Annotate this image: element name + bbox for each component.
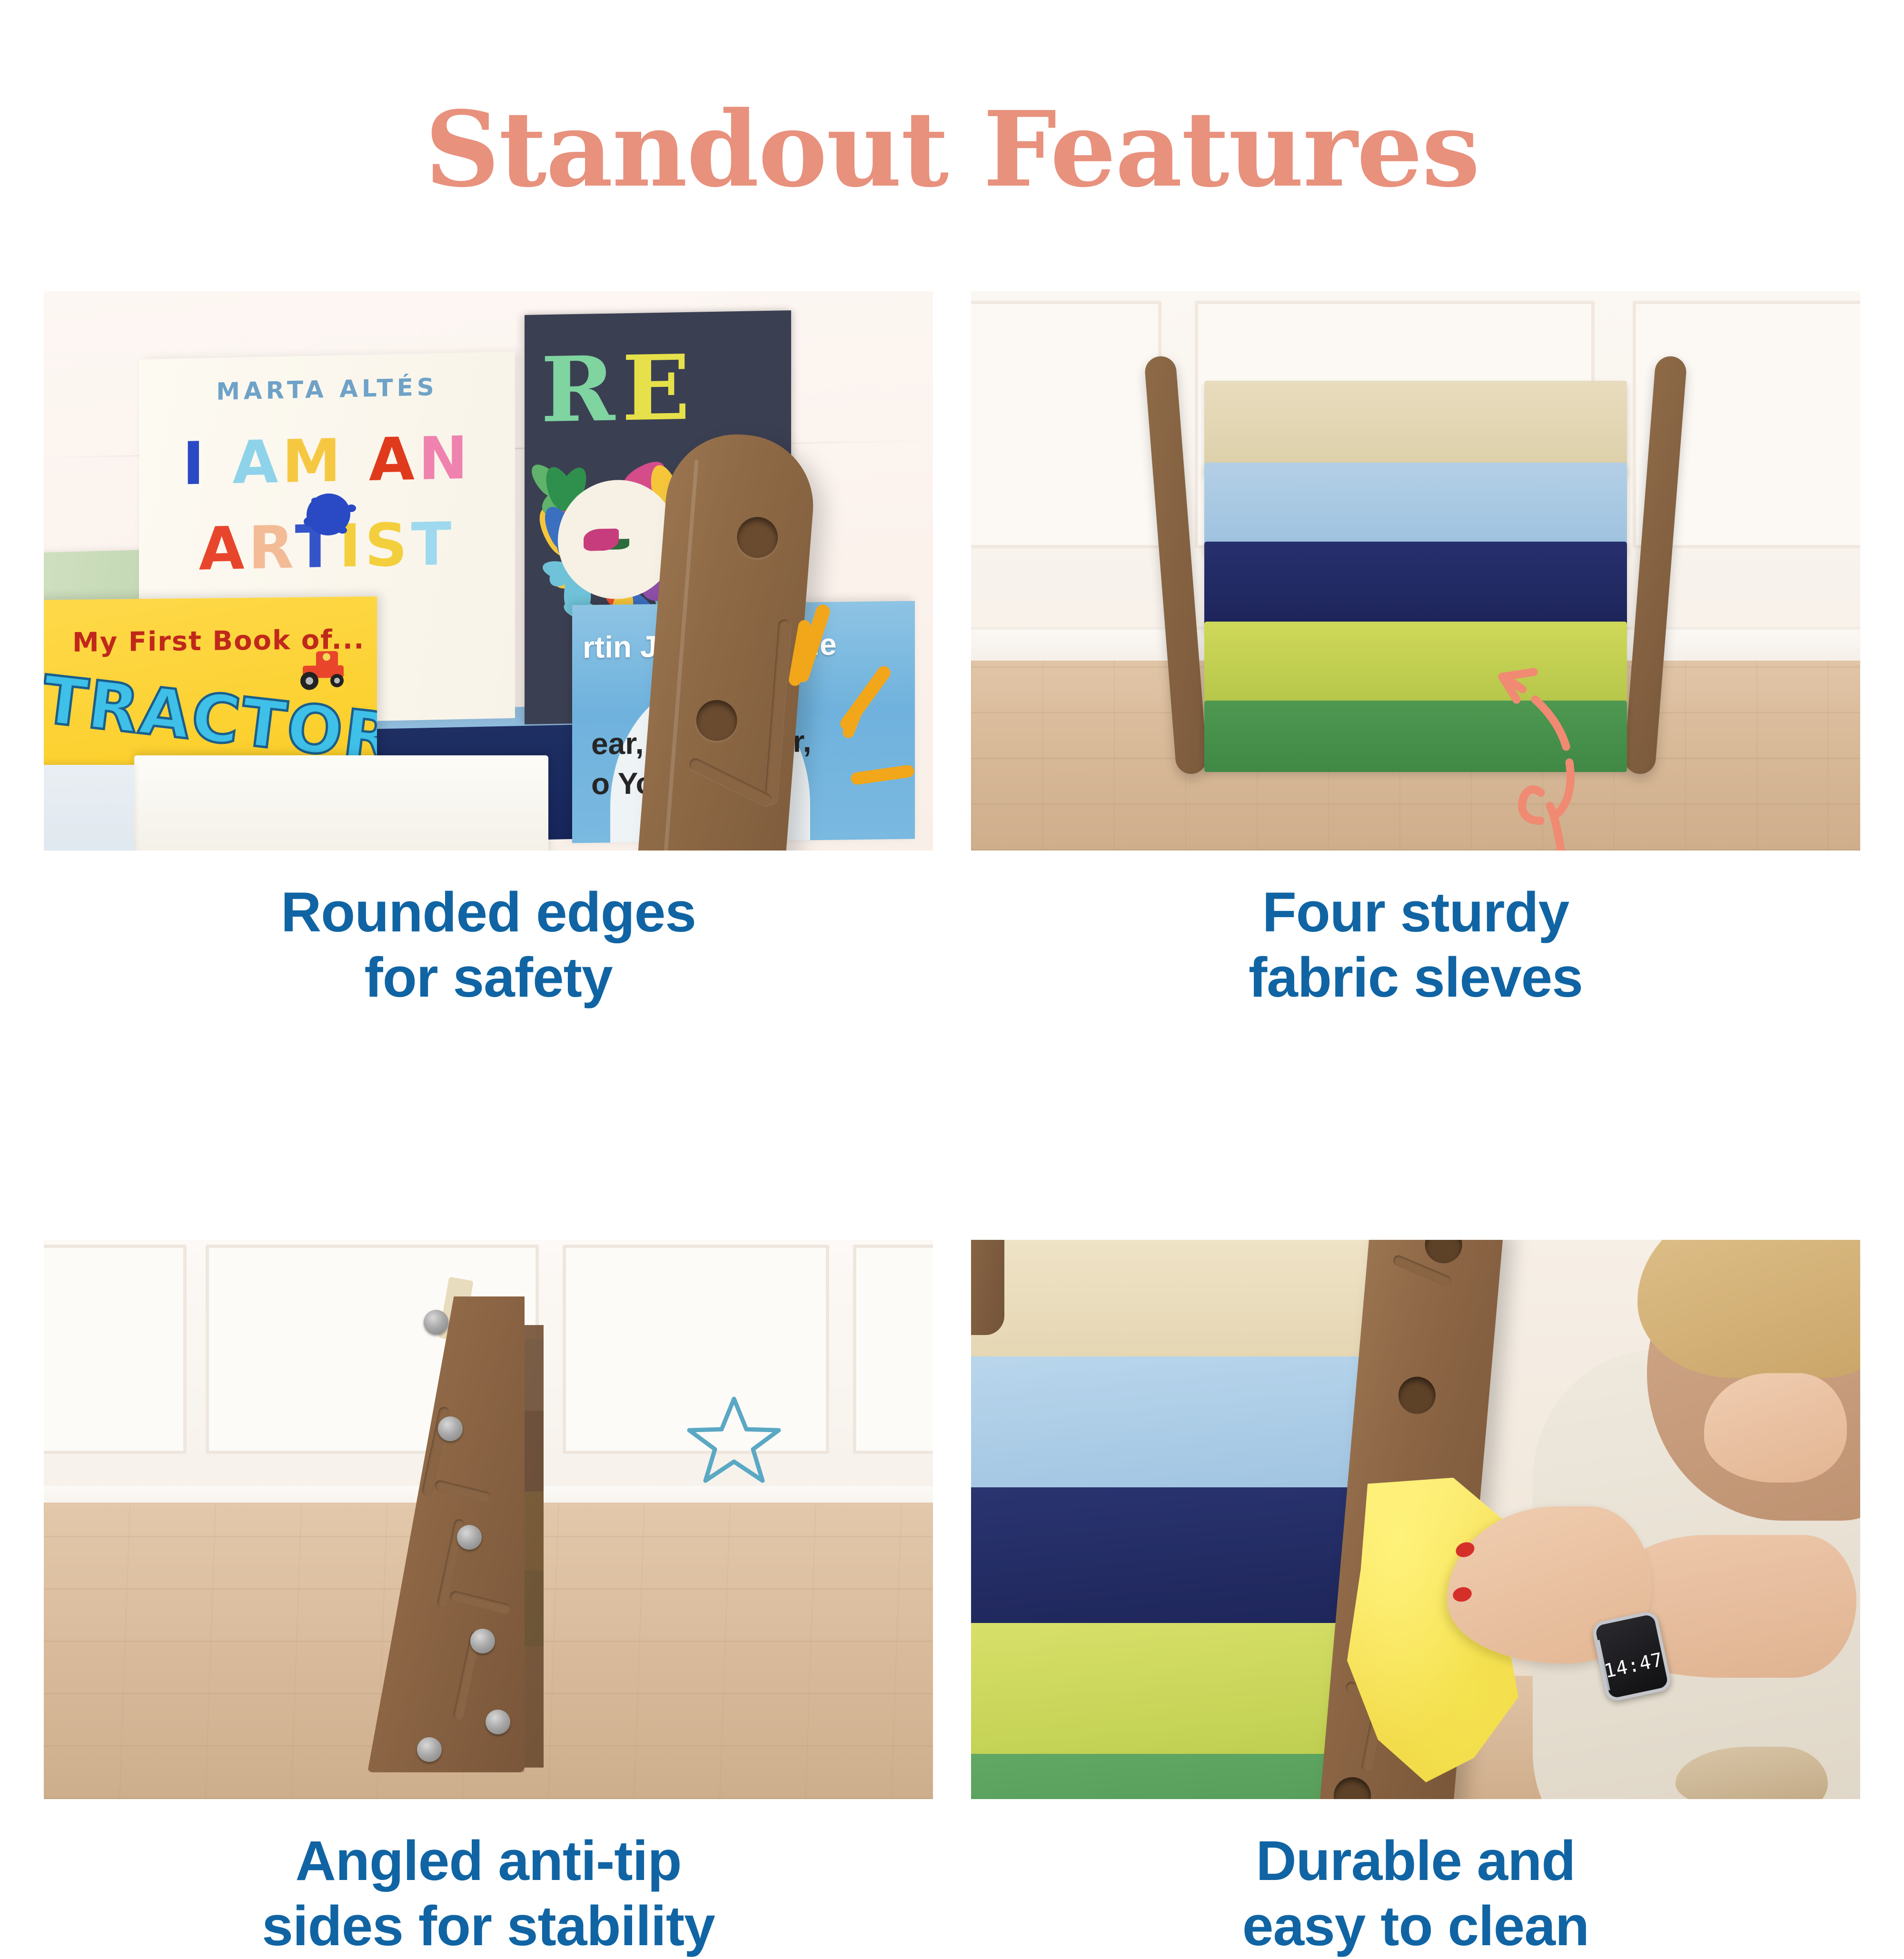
screw-icon bbox=[424, 1310, 448, 1335]
panel-groove bbox=[764, 619, 791, 805]
wall-moulding bbox=[44, 1245, 187, 1454]
bookshelf-front-view bbox=[1173, 355, 1658, 783]
screw-icon bbox=[417, 1737, 442, 1762]
wall-moulding bbox=[971, 301, 1161, 548]
page-title: Standout Features bbox=[0, 98, 1904, 201]
light-blue-sleeve bbox=[1204, 463, 1627, 553]
shelf-leg-left bbox=[971, 1240, 1004, 1335]
panel-hole bbox=[1397, 1375, 1437, 1415]
wall-moulding bbox=[853, 1245, 933, 1454]
screw-icon bbox=[486, 1710, 510, 1734]
screw-icon bbox=[470, 1629, 495, 1653]
screw-icon bbox=[438, 1416, 463, 1441]
feature-grid: ouse MARTA ALTÉS I AM AN ARTIST RE bbox=[44, 291, 1860, 1959]
curved-arrow-icon bbox=[1473, 579, 1673, 851]
panel-hole bbox=[1332, 1776, 1373, 1799]
panel-highlight bbox=[661, 459, 699, 851]
book-artist-line1: I AM AN bbox=[139, 423, 515, 500]
feature-card-rounded-edges[interactable]: ouse MARTA ALTÉS I AM AN ARTIST RE bbox=[44, 291, 933, 1010]
photo-fabric-sleeves bbox=[971, 291, 1860, 851]
screw-icon bbox=[457, 1525, 482, 1550]
book-artist-author: MARTA ALTÉS bbox=[139, 372, 515, 407]
panel-hole bbox=[1423, 1240, 1464, 1265]
panel-hole bbox=[735, 515, 779, 559]
feature-card-fabric-sleeves[interactable]: Four sturdy fabric sleves bbox=[971, 291, 1860, 1010]
star-icon bbox=[686, 1392, 782, 1487]
watch-time: 14:47 bbox=[1602, 1649, 1666, 1682]
book-tree-title: RE bbox=[541, 335, 697, 443]
angled-side-panel bbox=[367, 1296, 525, 1772]
caption-anti-tip-sides: Angled anti-tip sides for stability bbox=[44, 1829, 933, 1959]
panel-groove bbox=[687, 756, 774, 808]
caption-fabric-sleeves: Four sturdy fabric sleves bbox=[971, 880, 1860, 1010]
feature-row-1: ouse MARTA ALTÉS I AM AN ARTIST RE bbox=[44, 291, 1860, 1010]
feature-card-anti-tip-sides[interactable]: Angled anti-tip sides for stability bbox=[44, 1240, 933, 1959]
book-pale-blue bbox=[44, 765, 134, 851]
caption-easy-clean: Durable and easy to clean bbox=[971, 1829, 1860, 1959]
infographic-page: Standout Features ouse MARTA ALTÉS I AM … bbox=[0, 0, 1904, 1904]
bookshelf-side-profile bbox=[367, 1287, 586, 1772]
feature-row-2: Angled anti-tip sides for stability bbox=[44, 1240, 1860, 1959]
book-white-cover bbox=[134, 755, 548, 851]
panel-hole bbox=[694, 698, 738, 742]
person-hair bbox=[1637, 1240, 1860, 1378]
person-resting-hand bbox=[1704, 1373, 1847, 1483]
tractor-illustration bbox=[293, 647, 355, 691]
beige-sleeve bbox=[1204, 381, 1627, 476]
feature-card-easy-clean[interactable]: 14:47 Durable and easy to clean bbox=[971, 1240, 1860, 1959]
photo-rounded-edges: ouse MARTA ALTÉS I AM AN ARTIST RE bbox=[44, 291, 933, 851]
photo-anti-tip-sides bbox=[44, 1240, 933, 1799]
caption-rounded-edges: Rounded edges for safety bbox=[44, 880, 933, 1010]
photo-easy-clean: 14:47 bbox=[971, 1240, 1860, 1799]
